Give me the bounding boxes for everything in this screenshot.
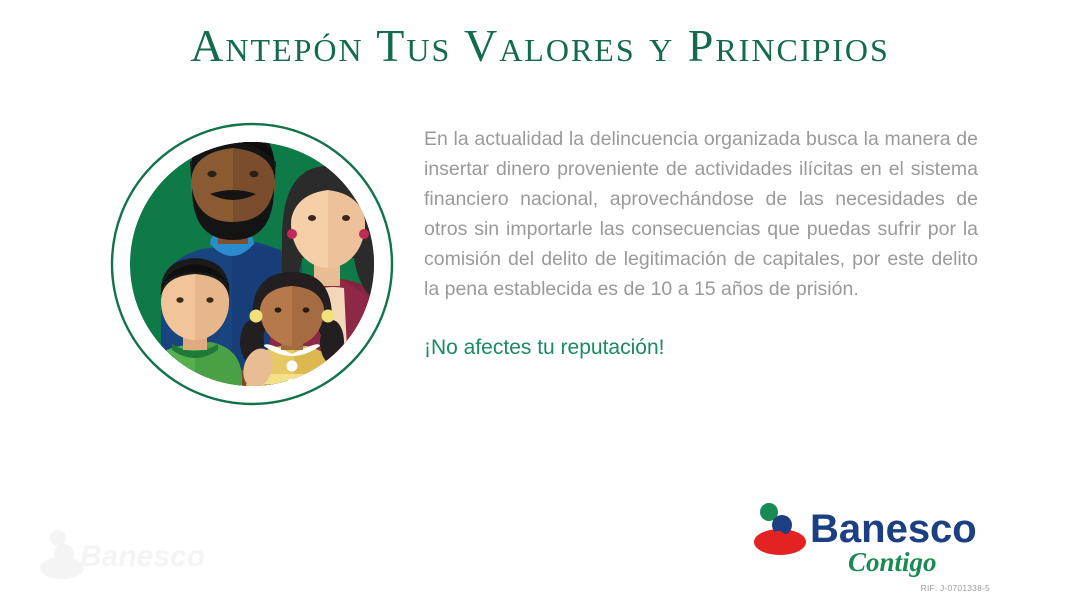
svg-text:Banesco: Banesco [80, 540, 205, 573]
banesco-slogan: Contigo [848, 547, 937, 577]
copy-block: En la actualidad la delincuencia organiz… [424, 124, 978, 362]
slide-canvas: Antepón Tus Valores y Principios [0, 0, 1080, 600]
rif-number: RIF: J-0701338-5 [810, 583, 990, 593]
body-paragraph: En la actualidad la delincuencia organiz… [424, 124, 978, 304]
family-illustration [106, 118, 398, 410]
page-title: Antepón Tus Valores y Principios [0, 18, 1080, 74]
banesco-logo-mark [754, 503, 806, 555]
banesco-logo: Banesco Contigo [752, 498, 988, 580]
watermark-mark-dot [50, 530, 66, 546]
banesco-wordmark: Banesco [810, 507, 977, 551]
banesco-watermark-logo: Banesco [34, 524, 224, 584]
tagline: ¡No afectes tu reputación! [424, 304, 978, 362]
